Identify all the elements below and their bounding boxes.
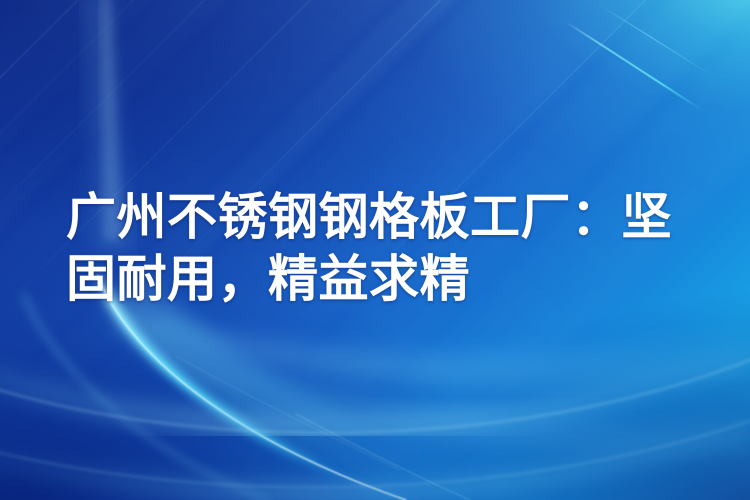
headline: 广州不锈钢钢格板工厂：坚 固耐用，精益求精 xyxy=(66,186,706,310)
promo-banner: 广州不锈钢钢格板工厂：坚 固耐用，精益求精 xyxy=(0,0,750,500)
headline-line-2: 固耐用，精益求精 xyxy=(66,248,706,310)
headline-line-1: 广州不锈钢钢格板工厂：坚 xyxy=(66,186,706,248)
